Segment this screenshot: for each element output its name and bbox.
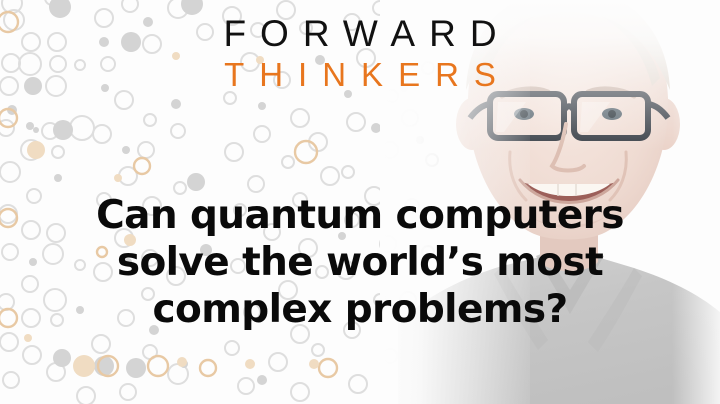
headline-line-2: solve the world’s most <box>0 239 720 286</box>
brand-title-thinkers: THINKERS <box>0 54 720 96</box>
headline: Can quantum computers solve the world’s … <box>0 192 720 333</box>
brand-lockup: FORWARD THINKERS <box>0 14 720 96</box>
thumbnail-canvas: FORWARD THINKERS Can quantum computers s… <box>0 0 720 404</box>
brand-title-forward: FORWARD <box>0 14 720 54</box>
headline-line-1: Can quantum computers <box>0 192 720 239</box>
headline-line-3: complex problems? <box>0 286 720 333</box>
